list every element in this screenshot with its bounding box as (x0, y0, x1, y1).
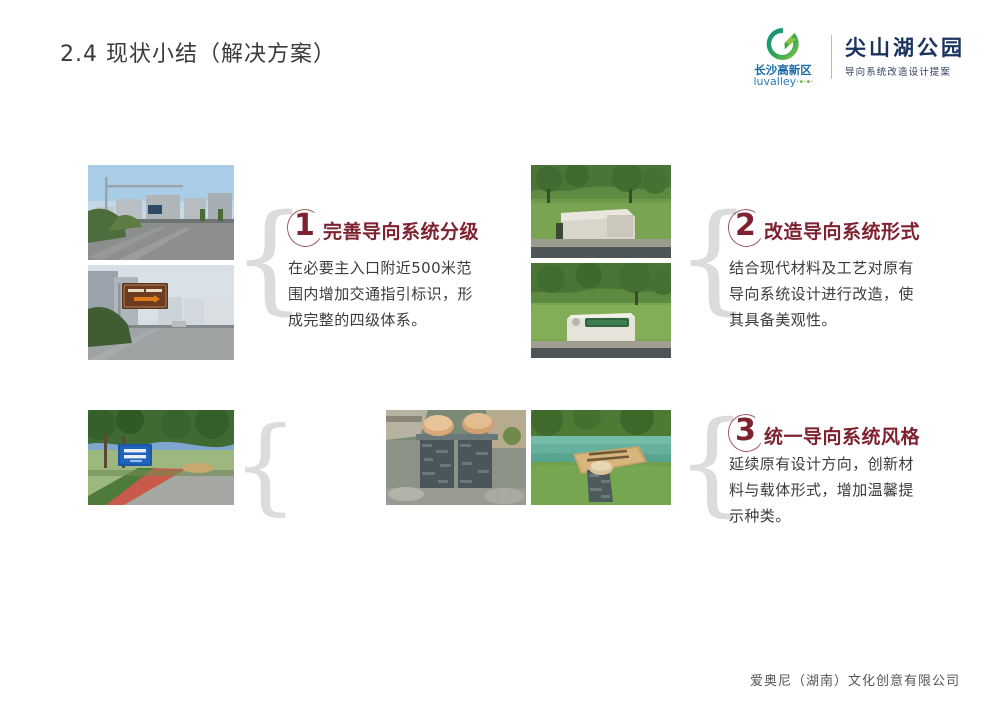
item-3-number-badge: 3 (728, 412, 762, 452)
item-2-number-badge: 2 (728, 207, 762, 247)
item-1-heading: 1 完善导向系统分级 (287, 207, 479, 247)
item-3-heading: 3 统一导向系统风格 (728, 412, 920, 452)
park-subtitle: 导向系统改造设计提案 (845, 64, 965, 78)
brand-block: 长沙高新区 luvalley·•·•· 尖山湖公园 导向系统改造设计提案 (746, 26, 965, 88)
brace-group-extra: { (232, 413, 298, 517)
logo-english-name: luvalley·•·•· (753, 76, 812, 89)
item-1-number-badge: 1 (287, 207, 321, 247)
item-1-body: 在必要主入口附近500米范围内增加交通指引标识，形成完整的四级体系。 (288, 256, 483, 333)
item-3-number: 3 (735, 413, 756, 449)
photo-wood-lake-sign (531, 410, 671, 505)
luvalley-swoosh-logo-icon (764, 25, 802, 63)
photo-stone-pillars (386, 410, 526, 505)
item-3-title: 统一导向系统风格 (764, 422, 920, 449)
item-2-title: 改造导向系统形式 (764, 217, 920, 244)
footer-company: 爱奥尼（湖南）文化创意有限公司 (750, 670, 960, 689)
page-title: 2.4 现状小结（解决方案） (60, 36, 336, 68)
item-2-number: 2 (735, 208, 756, 244)
item-1-title: 完善导向系统分级 (323, 217, 479, 244)
photo-white-green-panel-sign (531, 263, 671, 358)
item-3-body: 延续原有设计方向，创新材料与载体形式，增加温馨提示种类。 (729, 452, 925, 529)
brand-names: 尖山湖公园 导向系统改造设计提案 (845, 36, 965, 77)
park-name: 尖山湖公园 (845, 36, 965, 60)
photo-road-gantry (88, 165, 234, 260)
item-1-number: 1 (294, 208, 315, 244)
photo-blue-sign-red-track (88, 410, 234, 505)
item-2-body: 结合现代材料及工艺对原有导向系统设计进行改造，使其具备美观性。 (729, 256, 925, 333)
brand-divider (831, 35, 832, 79)
item-2-heading: 2 改造导向系统形式 (728, 207, 920, 247)
photo-concrete-sign-grass (531, 165, 671, 258)
logo-dots: ·•·•· (796, 77, 812, 88)
luvalley-logo: 长沙高新区 luvalley·•·•· (746, 25, 820, 89)
photo-brown-tourist-sign (88, 265, 234, 360)
